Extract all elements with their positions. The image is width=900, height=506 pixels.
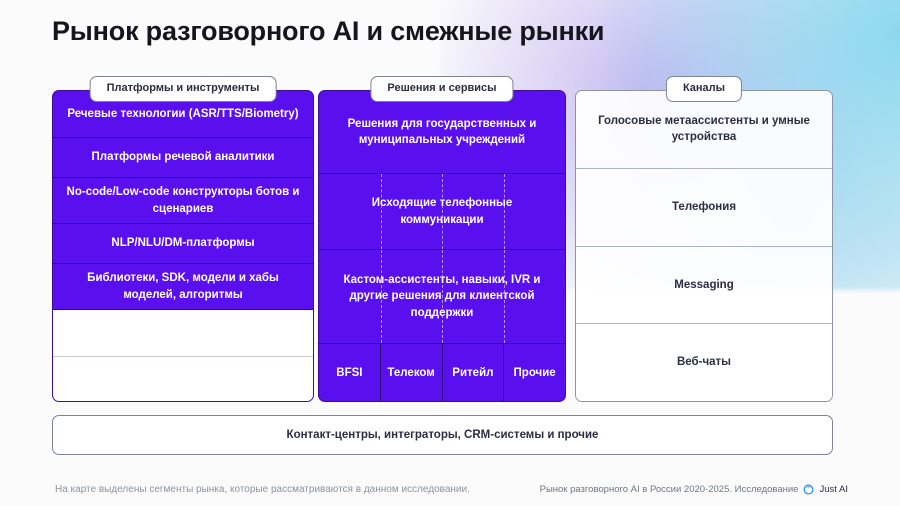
column-card-solutions: Решения для государственных и муниципаль… bbox=[318, 90, 566, 402]
list-item[interactable]: Библиотеки, SDK, модели и хабы моделей, … bbox=[53, 263, 313, 309]
page-title: Рынок разговорного AI и смежные рынки bbox=[52, 16, 604, 47]
list-item-label: Речевые технологии (ASR/TTS/Biometry) bbox=[67, 106, 298, 123]
list-item[interactable]: Телефония bbox=[576, 168, 832, 246]
just-ai-logo-icon bbox=[803, 484, 814, 495]
segment-cell-bfsi[interactable]: BFSI bbox=[319, 344, 380, 401]
segment-cell-telecom[interactable]: Телеком bbox=[380, 344, 442, 401]
column-platforms: Платформы и инструменты Речевые технолог… bbox=[52, 90, 314, 402]
infographic-page: Рынок разговорного AI и смежные рынки Пл… bbox=[0, 0, 900, 506]
list-item[interactable]: Голосовые метаассистенты и умные устройс… bbox=[576, 91, 832, 168]
list-item[interactable]: Кастом-ассистенты, навыки, IVR и другие … bbox=[319, 249, 565, 343]
segment-cell-retail[interactable]: Ритейл bbox=[442, 344, 504, 401]
list-item-label: Кастом-ассистенты, навыки, IVR и другие … bbox=[331, 272, 553, 322]
list-item[interactable]: Исходящие телефонные коммуникации bbox=[319, 173, 565, 249]
column-card-platforms: Речевые технологии (ASR/TTS/Biometry) Пл… bbox=[52, 90, 314, 402]
list-item[interactable]: No-code/Low-code конструкторы ботов и сц… bbox=[53, 177, 313, 223]
list-item[interactable]: Messaging bbox=[576, 246, 832, 324]
footer-credit: Рынок разговорного AI в России 2020-2025… bbox=[540, 484, 848, 495]
list-item[interactable]: Веб-чаты bbox=[576, 323, 832, 401]
list-item[interactable]: Решения для государственных и муниципаль… bbox=[319, 91, 565, 173]
list-item[interactable]: Платформы машинного перевода bbox=[53, 356, 313, 402]
list-item-label: No-code/Low-code конструкторы ботов и сц… bbox=[65, 184, 301, 217]
footer-note: На карте выделены сегменты рынка, которы… bbox=[55, 484, 470, 495]
list-item-label: Голосовые метаассистенты и умные устройс… bbox=[588, 113, 820, 146]
column-header-pill-solutions: Решения и сервисы bbox=[370, 76, 513, 102]
column-header-pill-platforms: Платформы и инструменты bbox=[90, 76, 277, 102]
column-solutions: Решения и сервисы Решения для государств… bbox=[318, 90, 566, 402]
list-item-label: Библиотеки, SDK, модели и хабы моделей, … bbox=[65, 270, 301, 303]
just-ai-brand-label: Just AI bbox=[819, 484, 848, 495]
list-item[interactable]: Платформы речевой аналитики bbox=[53, 137, 313, 177]
list-item-label: Исходящие телефонные коммуникации bbox=[331, 195, 553, 228]
list-item-label: Веб-чаты bbox=[677, 354, 731, 371]
list-item-label: Платформы машинного перевода bbox=[86, 372, 280, 389]
list-item-label: NLP/NLU/DM-платформы bbox=[111, 235, 254, 252]
column-channels: Каналы Голосовые метаассистенты и умные … bbox=[575, 90, 833, 402]
list-item-label: Платформы поиска и извлечения данных bbox=[65, 316, 301, 349]
list-item[interactable]: NLP/NLU/DM-платформы bbox=[53, 223, 313, 263]
bottom-bar-label: Контакт-центры, интеграторы, CRM-системы… bbox=[287, 429, 599, 441]
list-item-label: Платформы речевой аналитики bbox=[92, 149, 275, 166]
segment-row: BFSI Телеком Ритейл Прочие bbox=[319, 343, 565, 401]
column-header-pill-channels: Каналы bbox=[666, 76, 742, 102]
list-item-label: Решения для государственных и муниципаль… bbox=[331, 116, 553, 149]
footer-credit-text: Рынок разговорного AI в России 2020-2025… bbox=[540, 484, 799, 495]
column-card-channels: Голосовые метаассистенты и умные устройс… bbox=[575, 90, 833, 402]
segment-cell-other[interactable]: Прочие bbox=[503, 344, 565, 401]
list-item[interactable]: Платформы поиска и извлечения данных bbox=[53, 309, 313, 356]
list-item-label: Messaging bbox=[674, 277, 733, 294]
list-item-label: Телефония bbox=[672, 199, 736, 216]
bottom-bar[interactable]: Контакт-центры, интеграторы, CRM-системы… bbox=[52, 415, 833, 455]
